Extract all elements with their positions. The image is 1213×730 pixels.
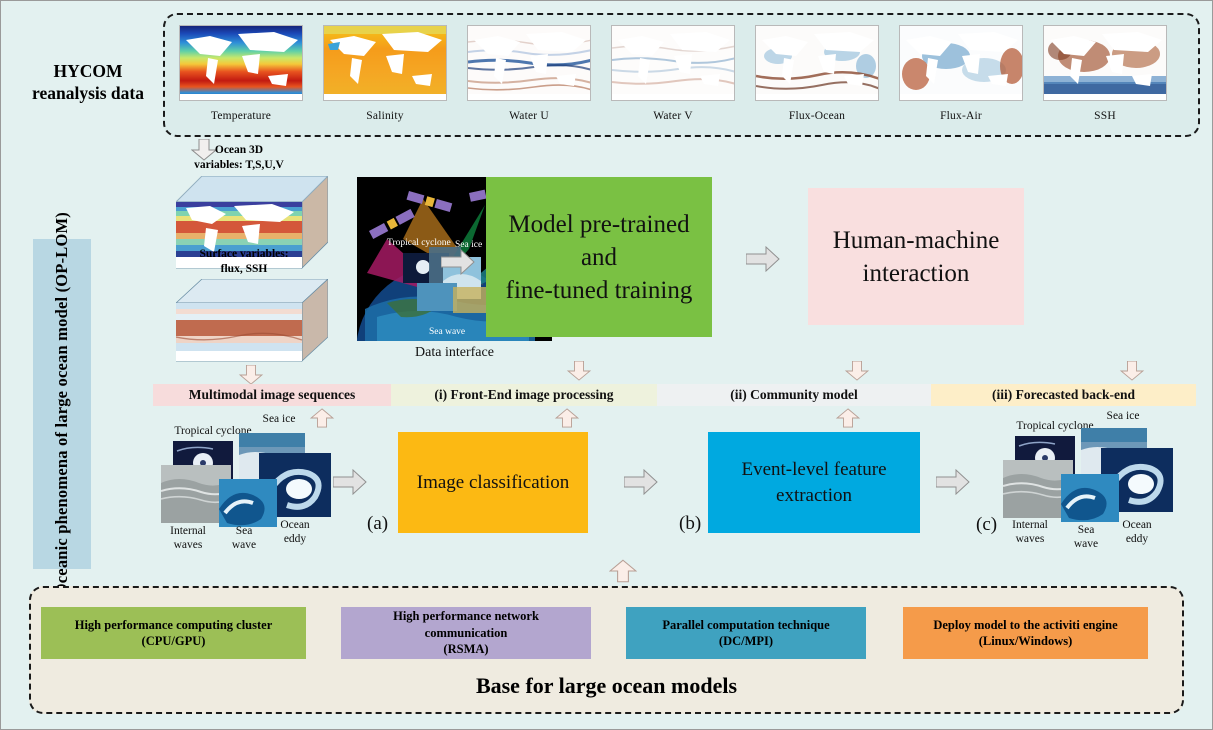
map-caption: SSH xyxy=(1043,110,1167,122)
map-caption: Flux-Ocean xyxy=(755,110,879,122)
surface-variables-cube xyxy=(176,279,328,370)
anno-tropical-cyclone: Tropical cyclone xyxy=(387,238,451,248)
op-lom-label: Oceanic phenomena of large ocean model (… xyxy=(50,212,74,596)
bb1-line2: communication xyxy=(393,625,539,642)
human-machine-line2: interaction xyxy=(833,257,1000,290)
figure-root: Temperature Salinity xyxy=(0,0,1213,730)
label-sea-wave: Sea wave xyxy=(223,525,265,553)
arrow-right-icon xyxy=(746,246,780,277)
map-cell-temperature: Temperature xyxy=(179,25,303,122)
tag-b: (b) xyxy=(679,513,701,535)
image-classification-box[interactable]: Image classification xyxy=(398,432,588,533)
hycom-title-line1: HYCOM xyxy=(13,61,163,83)
stage-forecasted-back-end[interactable]: (iii) Forecasted back-end xyxy=(931,384,1196,406)
model-training-line2: fine-tuned training xyxy=(494,274,704,307)
label-internal-waves: Internal waves xyxy=(161,525,215,553)
map-thumb-ssh xyxy=(1043,25,1167,101)
map-cell-flux-ocean: Flux-Ocean xyxy=(755,25,879,122)
map-thumb-temperature xyxy=(179,25,303,101)
bb1-line3: (RSMA) xyxy=(393,641,539,658)
op-lom-vertical-bar: Oceanic phenomena of large ocean model (… xyxy=(33,239,91,569)
arrow-up-icon xyxy=(835,408,861,433)
label-sea-ice: Sea ice xyxy=(1093,410,1153,424)
ocean-3d-variables-label: Ocean 3D variables: T,S,U,V xyxy=(169,143,309,172)
event-feature-line2: extraction xyxy=(741,483,886,508)
ocean-3d-line2: variables: T,S,U,V xyxy=(169,158,309,173)
map-thumb-water-v xyxy=(611,25,735,101)
bb1-line1: High performance network xyxy=(393,608,539,625)
map-thumb-flux-ocean xyxy=(755,25,879,101)
arrow-up-icon xyxy=(609,559,637,588)
surface-variables-label: Surface variables: flux, SSH xyxy=(169,247,319,276)
photo-sea-wave xyxy=(219,479,277,527)
photo-sea-wave xyxy=(1061,474,1119,522)
output-phenomena-cluster: Tropical cyclone Sea ice xyxy=(1001,416,1196,544)
model-training-line1: Model pre-trained and xyxy=(494,208,704,274)
map-cell-flux-air: Flux-Air xyxy=(899,25,1023,122)
bb3-line2: (Linux/Windows) xyxy=(933,633,1117,650)
map-caption: Salinity xyxy=(323,110,447,122)
surface-line1: Surface variables: xyxy=(169,247,319,262)
base-box-parallel-computation[interactable]: Parallel computation technique (DC/MPI) xyxy=(626,607,866,659)
hycom-title: HYCOM reanalysis data xyxy=(13,61,163,105)
stage-band: Multimodal image sequences (i) Front-End… xyxy=(153,384,1196,406)
map-caption: Flux-Air xyxy=(899,110,1023,122)
image-classification-text: Image classification xyxy=(417,472,569,494)
event-feature-extraction-box[interactable]: Event-level feature extraction xyxy=(708,432,920,533)
map-cell-salinity: Salinity xyxy=(323,25,447,122)
label-sea-wave: Sea wave xyxy=(1065,524,1107,552)
stage-front-end-image-processing[interactable]: (i) Front-End image processing xyxy=(391,384,657,406)
base-box-deploy-activiti[interactable]: Deploy model to the activiti engine (Lin… xyxy=(903,607,1148,659)
bb3-line1: Deploy model to the activiti engine xyxy=(933,617,1117,634)
hycom-reanalysis-panel: Temperature Salinity xyxy=(163,13,1200,137)
arrow-up-icon xyxy=(554,408,580,433)
base-box-hpc-cluster[interactable]: High performance computing cluster (CPU/… xyxy=(41,607,306,659)
stage-multimodal-image-sequences[interactable]: Multimodal image sequences xyxy=(153,384,391,406)
map-thumb-water-u xyxy=(467,25,591,101)
data-interface-caption: Data interface xyxy=(357,345,552,361)
map-caption: Water U xyxy=(467,110,591,122)
event-feature-text: Event-level feature extraction xyxy=(741,457,886,507)
human-machine-line1: Human-machine xyxy=(833,224,1000,257)
hycom-title-line2: reanalysis data xyxy=(13,83,163,105)
model-training-text: Model pre-trained and fine-tuned trainin… xyxy=(486,208,712,307)
map-caption: Temperature xyxy=(179,110,303,122)
arrow-down-icon xyxy=(566,361,592,386)
event-feature-line1: Event-level feature xyxy=(741,457,886,482)
arrow-right-icon xyxy=(441,249,475,280)
surface-line2: flux, SSH xyxy=(169,262,319,277)
map-cell-water-v: Water V xyxy=(611,25,735,122)
map-thumb-salinity xyxy=(323,25,447,101)
label-sea-ice: Sea ice xyxy=(249,413,309,427)
input-phenomena-cluster: Tropical cyclone Sea ice xyxy=(161,421,356,546)
map-cell-ssh: SSH xyxy=(1043,25,1167,122)
arrow-down-icon xyxy=(844,361,870,386)
arrow-right-icon xyxy=(624,469,658,500)
bb2-line1: Parallel computation technique xyxy=(662,617,829,634)
bb0-line1: High performance computing cluster xyxy=(75,617,273,634)
label-ocean-eddy: Ocean eddy xyxy=(1113,519,1161,547)
label-ocean-eddy: Ocean eddy xyxy=(271,519,319,547)
map-thumb-flux-air xyxy=(899,25,1023,101)
anno-sea-wave: Sea wave xyxy=(429,327,465,337)
arrow-down-icon xyxy=(1119,361,1145,386)
tag-a: (a) xyxy=(367,513,388,535)
stage-community-model[interactable]: (ii) Community model xyxy=(657,384,931,406)
arrow-right-icon xyxy=(333,469,367,500)
base-title: Base for large ocean models xyxy=(29,673,1184,699)
map-caption: Water V xyxy=(611,110,735,122)
human-machine-interaction-box[interactable]: Human-machine interaction xyxy=(808,188,1024,325)
model-training-box[interactable]: Model pre-trained and fine-tuned trainin… xyxy=(486,177,712,337)
map-cell-water-u: Water U xyxy=(467,25,591,122)
tag-c: (c) xyxy=(976,514,997,536)
label-internal-waves: Internal waves xyxy=(1003,519,1057,547)
human-machine-text: Human-machine interaction xyxy=(825,224,1008,290)
base-box-network-communication[interactable]: High performance network communication (… xyxy=(341,607,591,659)
bb2-line2: (DC/MPI) xyxy=(662,633,829,650)
ocean-3d-line1: Ocean 3D xyxy=(169,143,309,158)
bb0-line2: (CPU/GPU) xyxy=(75,633,273,650)
arrow-right-icon xyxy=(936,469,970,500)
